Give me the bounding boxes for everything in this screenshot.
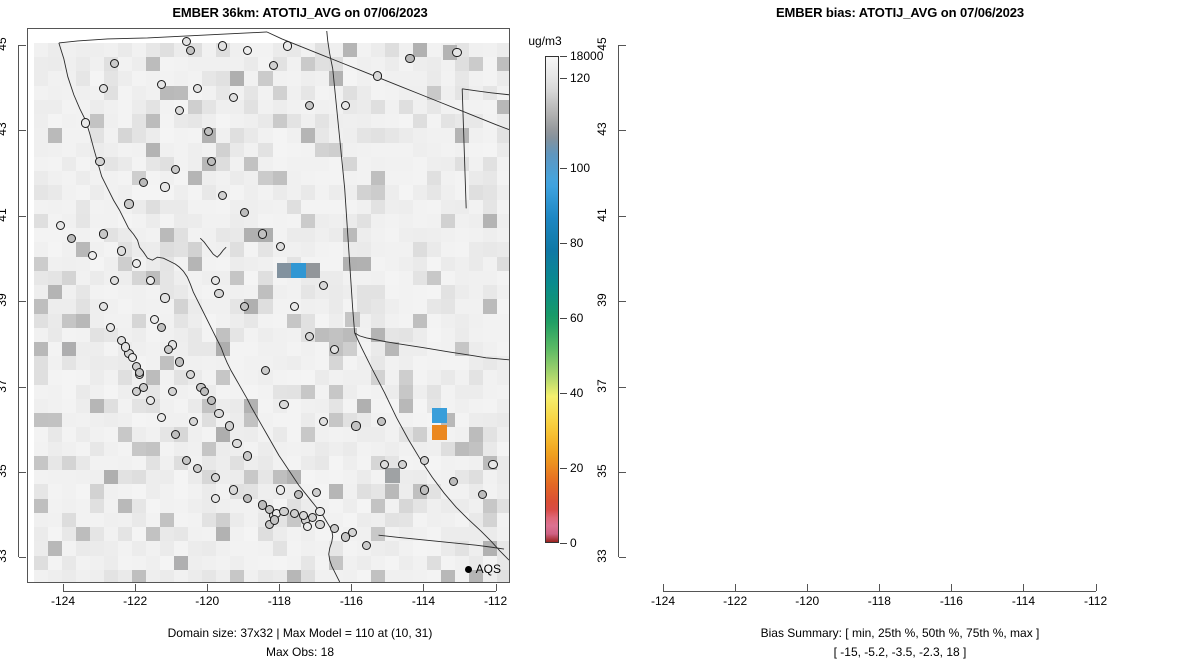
x-axis-tick bbox=[879, 584, 880, 591]
obs-site-marker bbox=[276, 485, 285, 494]
y-axis-line bbox=[618, 45, 619, 557]
model-panel: EMBER 36km: ATOTIJ_AVG on 07/06/2023 bbox=[0, 0, 600, 672]
obs-site-marker bbox=[81, 118, 90, 127]
obs-site-marker bbox=[270, 515, 279, 524]
obs-site-marker bbox=[243, 494, 252, 503]
y-axis-tick-label: 37 bbox=[595, 369, 609, 403]
colorbar-tick-label: 80 bbox=[570, 236, 583, 250]
y-axis-tick-label: 39 bbox=[0, 283, 9, 317]
colorbar-tick bbox=[560, 318, 567, 319]
model-obs-points bbox=[28, 29, 509, 582]
y-axis-tick bbox=[619, 130, 626, 131]
x-axis-tick-label: -118 bbox=[856, 594, 902, 608]
y-axis-tick-label: 41 bbox=[0, 198, 9, 232]
x-axis-tick bbox=[951, 584, 952, 591]
obs-site-marker bbox=[243, 46, 252, 55]
obs-site-marker bbox=[204, 127, 213, 136]
obs-site-marker bbox=[211, 276, 220, 285]
obs-site-marker bbox=[420, 485, 429, 494]
obs-site-marker bbox=[488, 460, 497, 469]
y-axis-tick-label: 43 bbox=[595, 112, 609, 146]
colorbar-tick-label: 20 bbox=[570, 461, 583, 475]
x-axis-tick-label: -124 bbox=[40, 594, 86, 608]
obs-site-marker bbox=[139, 178, 148, 187]
obs-site-marker bbox=[128, 353, 137, 362]
x-axis-tick bbox=[807, 584, 808, 591]
y-axis-tick bbox=[619, 301, 626, 302]
y-axis-tick bbox=[19, 387, 26, 388]
bias-panel-title: EMBER bias: ATOTIJ_AVG on 07/06/2023 bbox=[600, 5, 1200, 20]
obs-site-marker bbox=[330, 345, 339, 354]
obs-site-marker bbox=[200, 387, 209, 396]
obs-site-marker bbox=[283, 41, 292, 50]
obs-site-marker bbox=[380, 460, 389, 469]
obs-site-marker bbox=[95, 157, 104, 166]
y-axis-tick-label: 33 bbox=[0, 539, 9, 573]
model-colorbar-title: ug/m3 bbox=[528, 34, 561, 48]
obs-site-marker bbox=[175, 357, 184, 366]
colorbar-tick bbox=[560, 78, 567, 79]
model-colorbar-gradient bbox=[545, 56, 559, 543]
x-axis-line bbox=[663, 591, 1096, 592]
obs-site-marker bbox=[186, 46, 195, 55]
x-axis-tick bbox=[496, 584, 497, 591]
obs-site-marker bbox=[405, 54, 414, 63]
obs-site-marker bbox=[168, 387, 177, 396]
obs-site-marker bbox=[146, 396, 155, 405]
obs-site-marker bbox=[232, 439, 241, 448]
colorbar-tick bbox=[560, 543, 567, 544]
x-axis-line bbox=[63, 591, 496, 592]
y-axis-tick bbox=[619, 472, 626, 473]
x-axis-tick bbox=[207, 584, 208, 591]
obs-site-marker bbox=[341, 532, 350, 541]
obs-site-marker bbox=[377, 417, 386, 426]
x-axis-tick bbox=[1023, 584, 1024, 591]
obs-site-marker bbox=[305, 332, 314, 341]
y-axis-tick-label: 35 bbox=[595, 454, 609, 488]
model-caption-line1: Domain size: 37x32 | Max Model = 110 at … bbox=[0, 626, 600, 640]
obs-site-marker bbox=[157, 413, 166, 422]
obs-site-marker bbox=[373, 71, 382, 80]
obs-site-marker bbox=[99, 229, 108, 238]
bias-panel: EMBER bias: ATOTIJ_AVG on 07/06/2023 bbox=[600, 0, 1200, 672]
colorbar-tick bbox=[560, 168, 567, 169]
obs-site-marker bbox=[214, 289, 223, 298]
colorbar-tick-label: 0 bbox=[570, 536, 577, 550]
obs-site-marker bbox=[146, 276, 155, 285]
y-axis-tick-label: 35 bbox=[0, 454, 9, 488]
bias-caption-line1: Bias Summary: [ min, 25th %, 50th %, 75t… bbox=[600, 626, 1200, 640]
obs-site-marker bbox=[110, 59, 119, 68]
y-axis-tick-label: 45 bbox=[0, 27, 9, 61]
obs-site-marker bbox=[164, 345, 173, 354]
obs-site-marker bbox=[229, 485, 238, 494]
obs-site-marker bbox=[449, 477, 458, 486]
obs-site-marker bbox=[276, 242, 285, 251]
obs-site-marker bbox=[193, 464, 202, 473]
colorbar-tick-label: 60 bbox=[570, 311, 583, 325]
obs-site-marker bbox=[351, 421, 360, 430]
obs-site-marker bbox=[218, 41, 227, 50]
obs-site-marker bbox=[110, 276, 119, 285]
obs-site-marker bbox=[56, 221, 65, 230]
aqs-marker-icon bbox=[465, 566, 472, 573]
obs-site-marker bbox=[279, 507, 288, 516]
obs-site-marker bbox=[211, 494, 220, 503]
obs-site-marker bbox=[452, 48, 461, 57]
x-axis-tick-label: -122 bbox=[712, 594, 758, 608]
colorbar-tick-label: 100 bbox=[570, 161, 590, 175]
obs-site-marker bbox=[315, 520, 324, 529]
obs-site-marker bbox=[211, 473, 220, 482]
obs-site-marker bbox=[240, 302, 249, 311]
obs-site-marker bbox=[132, 387, 141, 396]
y-axis-tick bbox=[619, 216, 626, 217]
obs-site-marker bbox=[106, 323, 115, 332]
colorbar-tick-label: 40 bbox=[570, 386, 583, 400]
obs-site-marker bbox=[319, 417, 328, 426]
y-axis-line bbox=[18, 45, 19, 557]
y-axis-tick bbox=[19, 472, 26, 473]
y-axis-tick bbox=[619, 387, 626, 388]
obs-site-marker bbox=[171, 430, 180, 439]
x-axis-tick-label: -112 bbox=[473, 594, 519, 608]
obs-site-marker bbox=[132, 259, 141, 268]
x-axis-tick-label: -118 bbox=[256, 594, 302, 608]
bias-caption-line2: [ -15, -5.2, -3.5, -2.3, 18 ] bbox=[600, 645, 1200, 659]
obs-site-marker bbox=[398, 460, 407, 469]
aqs-legend-left: AQS bbox=[465, 562, 501, 576]
obs-site-marker bbox=[193, 84, 202, 93]
y-axis-tick-label: 37 bbox=[0, 369, 9, 403]
obs-site-marker bbox=[182, 456, 191, 465]
obs-site-marker bbox=[175, 106, 184, 115]
obs-site-marker bbox=[207, 396, 216, 405]
obs-site-marker bbox=[225, 421, 234, 430]
x-axis-tick-label: -114 bbox=[1000, 594, 1046, 608]
obs-site-marker bbox=[117, 246, 126, 255]
x-axis-tick bbox=[63, 584, 64, 591]
obs-site-marker bbox=[186, 370, 195, 379]
obs-site-marker bbox=[240, 208, 249, 217]
obs-site-marker bbox=[269, 61, 278, 70]
obs-site-marker bbox=[124, 199, 133, 208]
obs-site-marker bbox=[229, 93, 238, 102]
x-axis-tick-label: -122 bbox=[112, 594, 158, 608]
obs-site-marker bbox=[290, 509, 299, 518]
y-axis-tick bbox=[19, 301, 26, 302]
obs-site-marker bbox=[218, 191, 227, 200]
obs-site-marker bbox=[341, 101, 350, 110]
model-panel-title: EMBER 36km: ATOTIJ_AVG on 07/06/2023 bbox=[0, 5, 600, 20]
y-axis-tick bbox=[619, 45, 626, 46]
obs-site-marker bbox=[214, 409, 223, 418]
obs-site-marker bbox=[330, 524, 339, 533]
obs-site-marker bbox=[157, 80, 166, 89]
obs-site-marker bbox=[294, 490, 303, 499]
obs-site-marker bbox=[88, 251, 97, 260]
obs-site-marker bbox=[315, 507, 324, 516]
obs-site-marker bbox=[319, 281, 328, 290]
colorbar-tick-label: 120 bbox=[570, 71, 590, 85]
x-axis-tick-label: -124 bbox=[640, 594, 686, 608]
x-axis-tick bbox=[1096, 584, 1097, 591]
x-axis-tick-label: -116 bbox=[928, 594, 974, 608]
x-axis-tick bbox=[135, 584, 136, 591]
model-caption-line2: Max Obs: 18 bbox=[0, 645, 600, 659]
obs-site-marker bbox=[279, 400, 288, 409]
x-axis-tick-label: -120 bbox=[784, 594, 830, 608]
x-axis-tick bbox=[351, 584, 352, 591]
obs-site-marker bbox=[243, 451, 252, 460]
obs-site-marker bbox=[150, 315, 159, 324]
colorbar-tick bbox=[560, 393, 567, 394]
x-axis-tick bbox=[735, 584, 736, 591]
x-axis-tick-label: -112 bbox=[1073, 594, 1119, 608]
obs-site-marker bbox=[261, 366, 270, 375]
obs-site-marker bbox=[99, 302, 108, 311]
obs-site-marker bbox=[420, 456, 429, 465]
x-axis-tick bbox=[663, 584, 664, 591]
y-axis-tick bbox=[19, 557, 26, 558]
y-axis-tick-label: 33 bbox=[595, 539, 609, 573]
aqs-legend-label: AQS bbox=[476, 562, 501, 576]
obs-site-marker bbox=[171, 165, 180, 174]
y-axis-tick-label: 39 bbox=[595, 283, 609, 317]
obs-site-marker bbox=[99, 84, 108, 93]
obs-site-marker bbox=[160, 182, 169, 191]
y-axis-tick bbox=[19, 130, 26, 131]
obs-site-marker bbox=[290, 302, 299, 311]
obs-site-marker bbox=[258, 229, 267, 238]
x-axis-tick-label: -116 bbox=[328, 594, 374, 608]
obs-site-marker bbox=[362, 541, 371, 550]
obs-site-marker bbox=[207, 157, 216, 166]
x-axis-tick-label: -120 bbox=[184, 594, 230, 608]
obs-site-marker bbox=[189, 417, 198, 426]
obs-site-marker bbox=[478, 490, 487, 499]
obs-site-marker bbox=[305, 101, 314, 110]
obs-site-marker bbox=[121, 342, 130, 351]
y-axis-tick bbox=[19, 216, 26, 217]
obs-site-marker bbox=[157, 323, 166, 332]
colorbar-tick bbox=[560, 243, 567, 244]
obs-site-marker bbox=[160, 293, 169, 302]
colorbar-tick bbox=[560, 56, 567, 57]
y-axis-tick bbox=[19, 45, 26, 46]
y-axis-tick-label: 43 bbox=[0, 112, 9, 146]
x-axis-tick-label: -114 bbox=[400, 594, 446, 608]
obs-site-marker bbox=[312, 488, 321, 497]
x-axis-tick bbox=[279, 584, 280, 591]
y-axis-tick-label: 45 bbox=[595, 27, 609, 61]
y-axis-tick-label: 41 bbox=[595, 198, 609, 232]
obs-site-marker bbox=[303, 522, 312, 531]
model-map-plot[interactable]: AQS bbox=[27, 28, 510, 583]
y-axis-tick bbox=[619, 557, 626, 558]
colorbar-tick bbox=[560, 468, 567, 469]
x-axis-tick bbox=[423, 584, 424, 591]
figure-root: EMBER 36km: ATOTIJ_AVG on 07/06/2023 bbox=[0, 0, 1200, 672]
obs-site-marker bbox=[67, 234, 76, 243]
